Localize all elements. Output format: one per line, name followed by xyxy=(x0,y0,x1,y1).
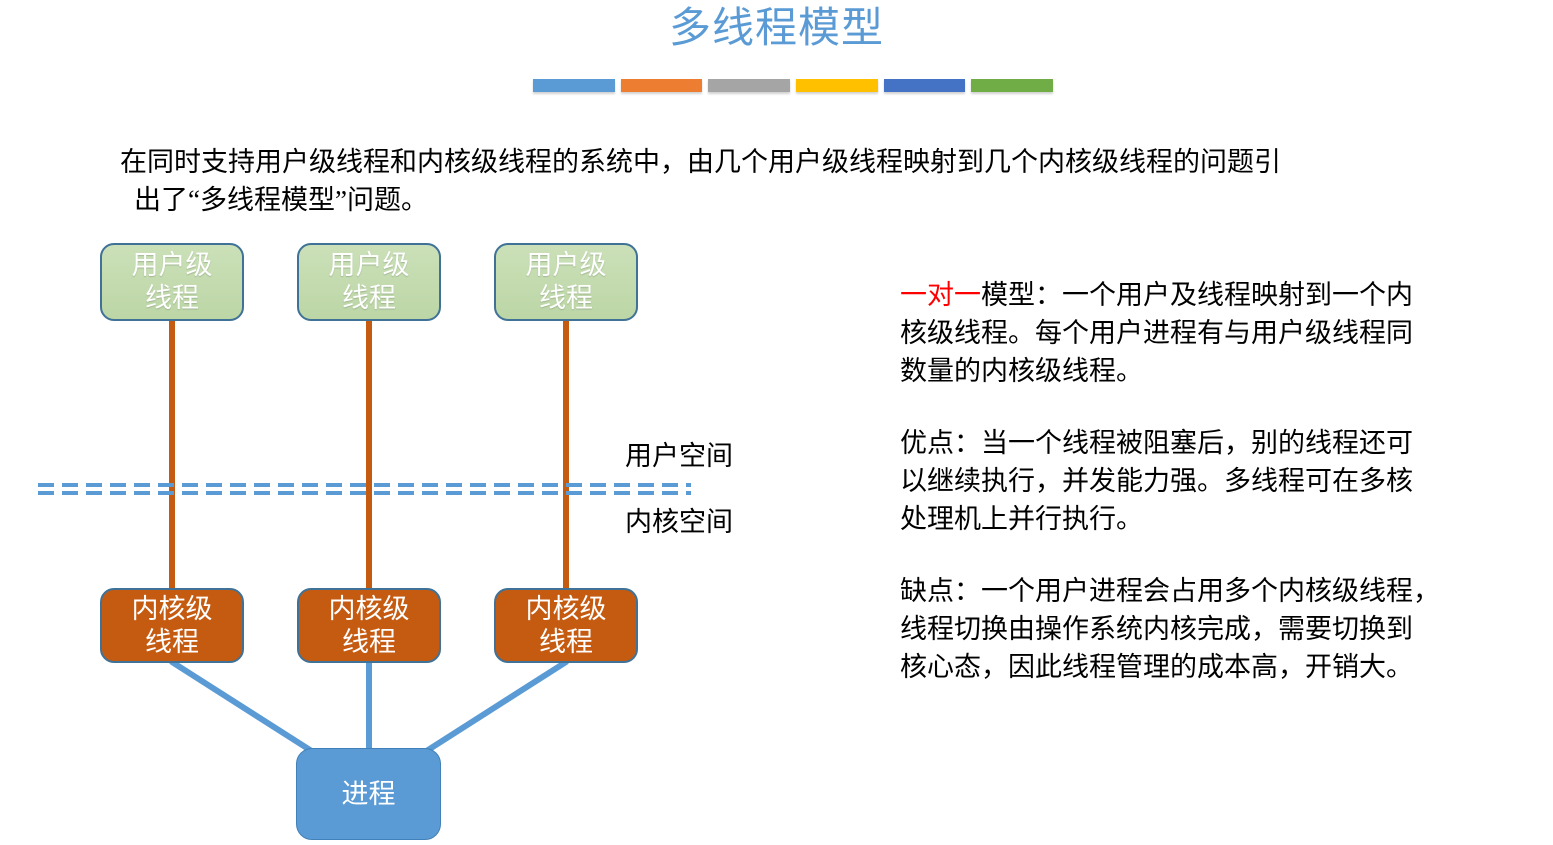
separator-dash-lower xyxy=(38,491,691,495)
kernel-thread-box-3[interactable]: 内核级 线程 xyxy=(494,588,638,663)
model-line-1: 一对一模型：一个用户及线程映射到一个内 xyxy=(900,276,1510,314)
advantages-line-3: 处理机上并行执行。 xyxy=(900,500,1510,538)
user-kernel-space-separator xyxy=(38,483,691,495)
kernel-thread-2-line2: 线程 xyxy=(342,626,396,659)
connector-user-kernel-1 xyxy=(169,318,175,590)
user-thread-box-1[interactable]: 用户级 线程 xyxy=(100,243,244,321)
decor-bar-green xyxy=(971,79,1053,92)
model-line-1-rest: 模型：一个用户及线程映射到一个内 xyxy=(981,280,1413,310)
connector-user-kernel-2 xyxy=(366,318,372,590)
advantages-line-2: 以继续执行，并发能力强。多线程可在多核 xyxy=(900,462,1510,500)
decor-bar-navy xyxy=(884,79,966,92)
separator-dash-upper xyxy=(38,483,691,487)
model-highlight: 一对一 xyxy=(900,280,981,310)
user-thread-3-line1: 用户级 xyxy=(526,249,607,282)
kernel-thread-3-line1: 内核级 xyxy=(526,593,607,626)
advantages-line-1: 优点：当一个线程被阻塞后，别的线程还可 xyxy=(900,424,1510,462)
user-thread-2-line1: 用户级 xyxy=(329,249,410,282)
paragraph-disadvantages: 缺点：一个用户进程会占用多个内核级线程， 线程切换由操作系统内核完成，需要切换到… xyxy=(900,572,1510,686)
explanation-column: 一对一模型：一个用户及线程映射到一个内 核级线程。每个用户进程有与用户级线程同 … xyxy=(900,276,1510,686)
disadvantages-line-2: 线程切换由操作系统内核完成，需要切换到 xyxy=(900,610,1510,648)
kernel-thread-2-line1: 内核级 xyxy=(329,593,410,626)
label-user-space: 用户空间 xyxy=(625,440,733,473)
connector-user-kernel-3 xyxy=(563,318,569,590)
model-line-3: 数量的内核级线程。 xyxy=(900,352,1510,390)
kernel-thread-box-2[interactable]: 内核级 线程 xyxy=(297,588,441,663)
user-thread-box-2[interactable]: 用户级 线程 xyxy=(297,243,441,321)
disadvantages-line-1: 缺点：一个用户进程会占用多个内核级线程， xyxy=(900,572,1510,610)
label-kernel-space: 内核空间 xyxy=(625,506,733,539)
disadvantages-line-3: 核心态，因此线程管理的成本高，开销大。 xyxy=(900,648,1510,686)
kernel-thread-3-line2: 线程 xyxy=(539,626,593,659)
kernel-thread-1-line2: 线程 xyxy=(145,626,199,659)
kernel-thread-box-1[interactable]: 内核级 线程 xyxy=(100,588,244,663)
process-label: 进程 xyxy=(342,778,396,811)
threading-model-diagram: 用户级 线程 用户级 线程 用户级 线程 用户空间 内核空间 内核级 线程 内核… xyxy=(0,0,880,845)
user-thread-1-line2: 线程 xyxy=(145,282,199,315)
slide-root: 多线程模型 在同时支持用户级线程和内核级线程的系统中，由几个用户级线程映射到几个… xyxy=(0,0,1553,845)
model-line-2: 核级线程。每个用户进程有与用户级线程同 xyxy=(900,314,1510,352)
user-thread-box-3[interactable]: 用户级 线程 xyxy=(494,243,638,321)
user-thread-2-line2: 线程 xyxy=(342,282,396,315)
user-thread-1-line1: 用户级 xyxy=(132,249,213,282)
paragraph-model: 一对一模型：一个用户及线程映射到一个内 核级线程。每个用户进程有与用户级线程同 … xyxy=(900,276,1510,390)
process-box[interactable]: 进程 xyxy=(296,748,441,840)
process-connector-lines xyxy=(0,0,880,845)
paragraph-advantages: 优点：当一个线程被阻塞后，别的线程还可 以继续执行，并发能力强。多线程可在多核 … xyxy=(900,424,1510,538)
user-thread-3-line2: 线程 xyxy=(539,282,593,315)
kernel-thread-1-line1: 内核级 xyxy=(132,593,213,626)
